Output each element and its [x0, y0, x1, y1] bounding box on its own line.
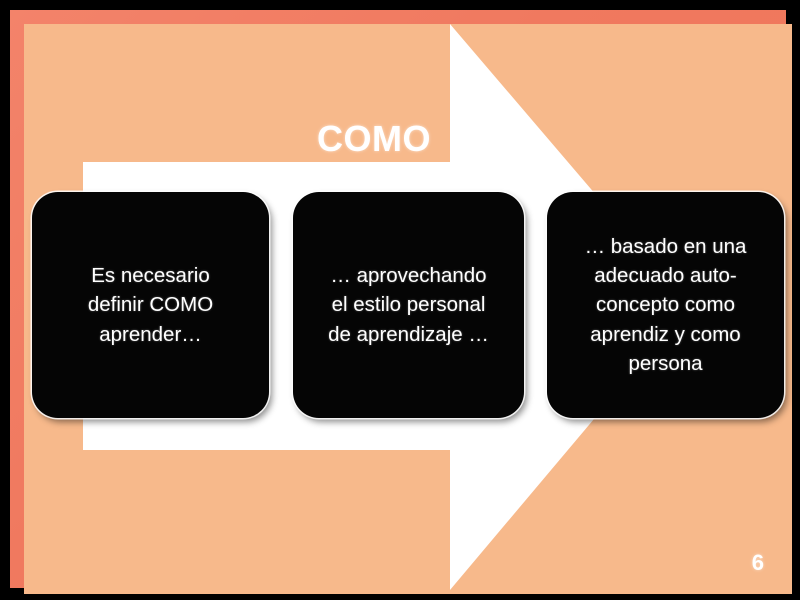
- content-box-2-text: … aprovechando el estilo personal de apr…: [320, 261, 497, 348]
- slide-border: COMO Es necesario definir COMO aprender……: [10, 10, 786, 588]
- content-box-3[interactable]: … basado en una adecuado auto- concepto …: [547, 192, 784, 418]
- slide-canvas: COMO Es necesario definir COMO aprender……: [24, 24, 792, 594]
- page-title: COMO: [24, 118, 724, 160]
- content-box-2[interactable]: … aprovechando el estilo personal de apr…: [293, 192, 524, 418]
- content-box-1-text: Es necesario definir COMO aprender…: [80, 261, 221, 348]
- content-box-1[interactable]: Es necesario definir COMO aprender…: [32, 192, 269, 418]
- content-box-3-text: … basado en una adecuado auto- concepto …: [577, 232, 755, 378]
- page-number: 6: [752, 550, 764, 576]
- slide-frame: COMO Es necesario definir COMO aprender……: [0, 0, 800, 600]
